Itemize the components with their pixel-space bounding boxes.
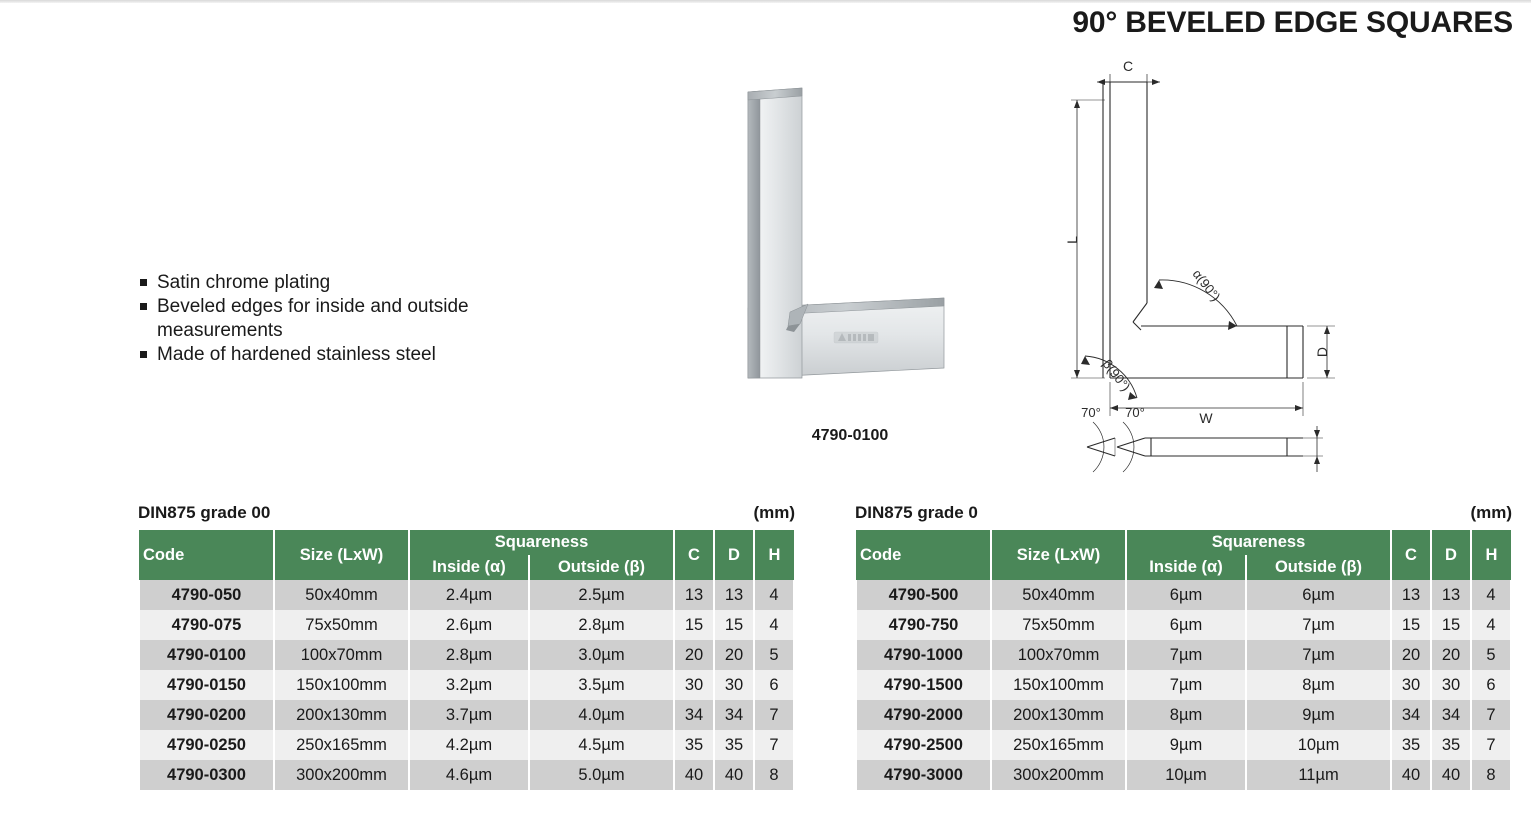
col-header-h: H xyxy=(754,530,794,580)
col-header-squareness: Squareness xyxy=(1126,530,1391,555)
table-row: 4790-50050x40mm6µm6µm13134 xyxy=(856,580,1511,610)
cell-outside: 7µm xyxy=(1246,610,1391,640)
col-header-c: C xyxy=(1391,530,1431,580)
cell-code: 4790-2500 xyxy=(856,730,991,760)
cell-d: 34 xyxy=(1431,700,1471,730)
table-unit: (mm) xyxy=(1470,503,1512,523)
cell-h: 4 xyxy=(1471,610,1511,640)
cell-outside: 4.0µm xyxy=(529,700,674,730)
feature-list: Satin chrome plating Beveled edges for i… xyxy=(140,271,540,367)
spec-table-grade-0: DIN875 grade 0 (mm) Code Size (LxW) Squa… xyxy=(855,503,1512,790)
cell-size: 150x100mm xyxy=(274,670,409,700)
table-row: 4790-3000300x200mm10µm11µm40408 xyxy=(856,760,1511,790)
cell-outside: 3.5µm xyxy=(529,670,674,700)
cell-h: 7 xyxy=(754,700,794,730)
cell-h: 6 xyxy=(1471,670,1511,700)
cell-inside: 2.6µm xyxy=(409,610,529,640)
table-row: 4790-0300300x200mm4.6µm5.0µm40408 xyxy=(139,760,794,790)
cell-inside: 2.8µm xyxy=(409,640,529,670)
cell-inside: 3.7µm xyxy=(409,700,529,730)
dimension-label-w: W xyxy=(1199,410,1213,426)
table-row: 4790-05050x40mm2.4µm2.5µm13134 xyxy=(139,580,794,610)
cell-size: 75x50mm xyxy=(274,610,409,640)
table-row: 4790-1500150x100mm7µm8µm30306 xyxy=(856,670,1511,700)
cell-code: 4790-2000 xyxy=(856,700,991,730)
cell-code: 4790-1500 xyxy=(856,670,991,700)
cell-d: 20 xyxy=(714,640,754,670)
bullet-square-icon xyxy=(140,279,147,286)
cell-d: 13 xyxy=(714,580,754,610)
col-header-d: D xyxy=(1431,530,1471,580)
cell-inside: 3.2µm xyxy=(409,670,529,700)
cell-outside: 2.5µm xyxy=(529,580,674,610)
cell-outside: 9µm xyxy=(1246,700,1391,730)
cell-h: 7 xyxy=(754,730,794,760)
cell-size: 300x200mm xyxy=(274,760,409,790)
table-row: 4790-2500250x165mm9µm10µm35357 xyxy=(856,730,1511,760)
table-row: 4790-0250250x165mm4.2µm4.5µm35357 xyxy=(139,730,794,760)
col-header-code: Code xyxy=(139,530,274,580)
cell-d: 15 xyxy=(714,610,754,640)
cell-c: 35 xyxy=(1391,730,1431,760)
col-header-inside: Inside (α) xyxy=(1126,555,1246,580)
cell-inside: 9µm xyxy=(1126,730,1246,760)
feature-text: Beveled edges for inside and outside mea… xyxy=(157,295,540,343)
cell-inside: 10µm xyxy=(1126,760,1246,790)
cell-h: 4 xyxy=(1471,580,1511,610)
cell-outside: 7µm xyxy=(1246,640,1391,670)
cell-code: 4790-1000 xyxy=(856,640,991,670)
table-title: DIN875 grade 00 xyxy=(138,503,270,523)
cell-inside: 4.2µm xyxy=(409,730,529,760)
cell-code: 4790-0200 xyxy=(139,700,274,730)
col-header-c: C xyxy=(674,530,714,580)
col-header-d: D xyxy=(714,530,754,580)
cell-size: 150x100mm xyxy=(991,670,1126,700)
col-header-code: Code xyxy=(856,530,991,580)
dimension-label-l: L xyxy=(1064,236,1080,244)
cell-c: 13 xyxy=(674,580,714,610)
table-title: DIN875 grade 0 xyxy=(855,503,978,523)
cell-d: 35 xyxy=(1431,730,1471,760)
cell-outside: 2.8µm xyxy=(529,610,674,640)
cell-size: 100x70mm xyxy=(991,640,1126,670)
cell-outside: 6µm xyxy=(1246,580,1391,610)
cell-c: 30 xyxy=(674,670,714,700)
cell-c: 40 xyxy=(674,760,714,790)
cell-c: 15 xyxy=(1391,610,1431,640)
bullet-square-icon xyxy=(140,303,147,310)
cell-outside: 11µm xyxy=(1246,760,1391,790)
table-unit: (mm) xyxy=(753,503,795,523)
cell-d: 30 xyxy=(714,670,754,700)
table-row: 4790-07575x50mm2.6µm2.8µm15154 xyxy=(139,610,794,640)
product-caption: 4790-0100 xyxy=(730,427,970,445)
cell-size: 300x200mm xyxy=(991,760,1126,790)
cell-size: 50x40mm xyxy=(274,580,409,610)
col-header-h: H xyxy=(1471,530,1511,580)
cell-d: 35 xyxy=(714,730,754,760)
cell-d: 20 xyxy=(1431,640,1471,670)
cell-c: 35 xyxy=(674,730,714,760)
list-item: Satin chrome plating xyxy=(140,271,540,295)
cell-code: 4790-0100 xyxy=(139,640,274,670)
table-row: 4790-0150150x100mm3.2µm3.5µm30306 xyxy=(139,670,794,700)
cell-c: 34 xyxy=(674,700,714,730)
cell-size: 250x165mm xyxy=(274,730,409,760)
cell-c: 15 xyxy=(674,610,714,640)
cell-code: 4790-500 xyxy=(856,580,991,610)
dimension-label-h: H xyxy=(1304,479,1320,480)
cell-d: 15 xyxy=(1431,610,1471,640)
angle-label-70-left: 70° xyxy=(1081,405,1101,420)
cell-c: 20 xyxy=(1391,640,1431,670)
cell-h: 4 xyxy=(754,580,794,610)
col-header-size: Size (LxW) xyxy=(274,530,409,580)
cell-c: 13 xyxy=(1391,580,1431,610)
cell-inside: 6µm xyxy=(1126,610,1246,640)
cell-outside: 3.0µm xyxy=(529,640,674,670)
dimension-label-c: C xyxy=(1123,60,1133,74)
cell-inside: 8µm xyxy=(1126,700,1246,730)
cell-code: 4790-050 xyxy=(139,580,274,610)
cell-code: 4790-750 xyxy=(856,610,991,640)
cell-h: 7 xyxy=(1471,700,1511,730)
cell-d: 30 xyxy=(1431,670,1471,700)
col-header-inside: Inside (α) xyxy=(409,555,529,580)
cell-inside: 7µm xyxy=(1126,640,1246,670)
cell-h: 5 xyxy=(1471,640,1511,670)
cell-c: 34 xyxy=(1391,700,1431,730)
cell-d: 40 xyxy=(714,760,754,790)
cell-h: 8 xyxy=(1471,760,1511,790)
bullet-square-icon xyxy=(140,351,147,358)
table-body-grade-0: 4790-50050x40mm6µm6µm131344790-75075x50m… xyxy=(856,580,1511,790)
cell-code: 4790-0250 xyxy=(139,730,274,760)
cell-h: 7 xyxy=(1471,730,1511,760)
table-caption: DIN875 grade 0 (mm) xyxy=(855,503,1512,523)
cell-d: 40 xyxy=(1431,760,1471,790)
table-caption: DIN875 grade 00 (mm) xyxy=(138,503,795,523)
cell-h: 6 xyxy=(754,670,794,700)
cell-outside: 10µm xyxy=(1246,730,1391,760)
dimension-label-d: D xyxy=(1314,347,1330,357)
cell-inside: 4.6µm xyxy=(409,760,529,790)
table-row: 4790-0100100x70mm2.8µm3.0µm20205 xyxy=(139,640,794,670)
table-body-grade-00: 4790-05050x40mm2.4µm2.5µm131344790-07575… xyxy=(139,580,794,790)
cell-h: 8 xyxy=(754,760,794,790)
table-row: 4790-75075x50mm6µm7µm15154 xyxy=(856,610,1511,640)
angle-label-70-right: 70° xyxy=(1125,405,1145,420)
cell-outside: 8µm xyxy=(1246,670,1391,700)
top-divider xyxy=(0,0,1531,3)
feature-text: Made of hardened stainless steel xyxy=(157,343,436,367)
cell-code: 4790-0150 xyxy=(139,670,274,700)
table-row: 4790-2000200x130mm8µm9µm34347 xyxy=(856,700,1511,730)
cell-code: 4790-0300 xyxy=(139,760,274,790)
page-title: 90° BEVELED EDGE SQUARES xyxy=(1072,6,1513,40)
cell-size: 200x130mm xyxy=(274,700,409,730)
cell-code: 4790-3000 xyxy=(856,760,991,790)
cell-outside: 4.5µm xyxy=(529,730,674,760)
technical-drawing: C L W D H α(90°) β(90°) 70° 70° xyxy=(1055,60,1365,480)
spec-table-grade-00: DIN875 grade 00 (mm) Code Size (LxW) Squ… xyxy=(138,503,795,790)
cell-outside: 5.0µm xyxy=(529,760,674,790)
cell-c: 40 xyxy=(1391,760,1431,790)
col-header-squareness: Squareness xyxy=(409,530,674,555)
cell-c: 20 xyxy=(674,640,714,670)
cell-size: 75x50mm xyxy=(991,610,1126,640)
table-row: 4790-0200200x130mm3.7µm4.0µm34347 xyxy=(139,700,794,730)
cell-d: 34 xyxy=(714,700,754,730)
cell-d: 13 xyxy=(1431,580,1471,610)
cell-size: 250x165mm xyxy=(991,730,1126,760)
list-item: Made of hardened stainless steel xyxy=(140,343,540,367)
cell-h: 5 xyxy=(754,640,794,670)
cell-inside: 7µm xyxy=(1126,670,1246,700)
feature-text: Satin chrome plating xyxy=(157,271,330,295)
col-header-outside: Outside (β) xyxy=(529,555,674,580)
cell-size: 100x70mm xyxy=(274,640,409,670)
cell-inside: 2.4µm xyxy=(409,580,529,610)
angle-label-alpha: α(90°) xyxy=(1190,266,1224,303)
col-header-size: Size (LxW) xyxy=(991,530,1126,580)
brand-engraving-icon xyxy=(834,332,878,343)
cell-code: 4790-075 xyxy=(139,610,274,640)
angle-label-beta: β(90°) xyxy=(1100,357,1134,394)
cell-size: 50x40mm xyxy=(991,580,1126,610)
cell-inside: 6µm xyxy=(1126,580,1246,610)
cell-c: 30 xyxy=(1391,670,1431,700)
col-header-outside: Outside (β) xyxy=(1246,555,1391,580)
list-item: Beveled edges for inside and outside mea… xyxy=(140,295,540,343)
cell-h: 4 xyxy=(754,610,794,640)
table-row: 4790-1000100x70mm7µm7µm20205 xyxy=(856,640,1511,670)
product-photo xyxy=(730,80,970,400)
cell-size: 200x130mm xyxy=(991,700,1126,730)
